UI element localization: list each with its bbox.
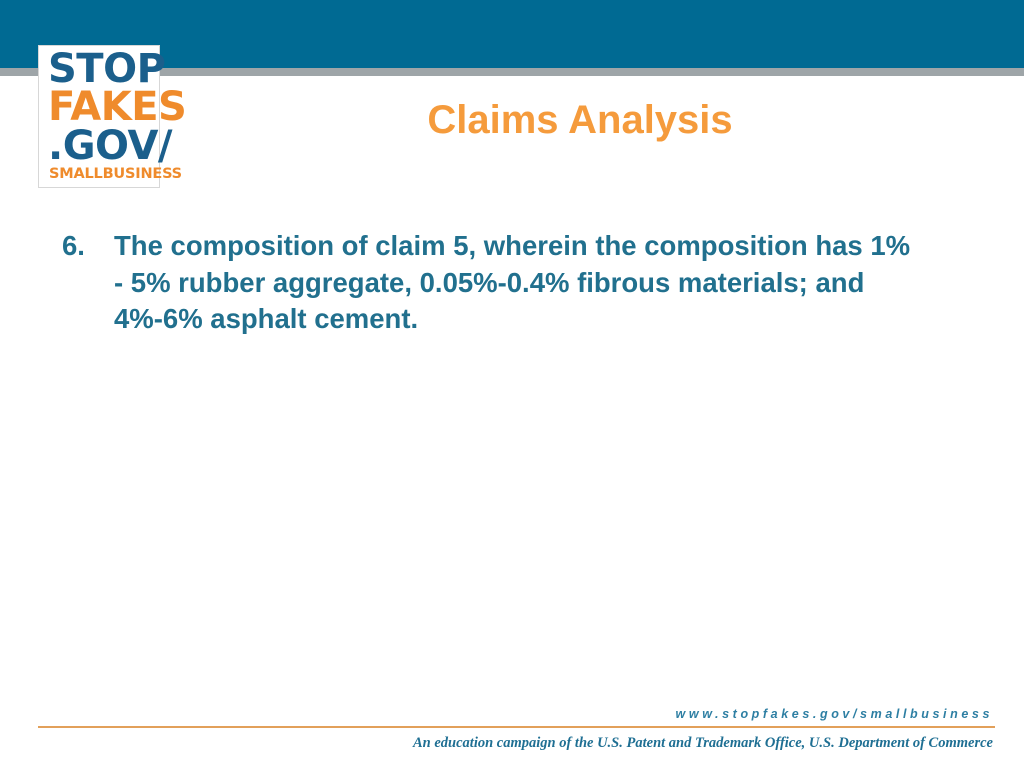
- logo-text-smallbusiness: SMALLBUSINESS: [39, 168, 159, 182]
- list-item-text: The composition of claim 5, wherein the …: [114, 228, 924, 338]
- list-item-marker: 6.: [62, 228, 114, 265]
- list-item: 6. The composition of claim 5, wherein t…: [62, 228, 962, 338]
- footer-divider-rule: [38, 726, 995, 728]
- stopfakes-logo[interactable]: STOP FAKES .GOV/ SMALLBUSINESS: [38, 45, 160, 188]
- page-title: Claims Analysis: [180, 98, 980, 142]
- logo-text-fakes: FAKES: [39, 88, 159, 126]
- claim-list: 6. The composition of claim 5, wherein t…: [62, 228, 962, 338]
- slide-canvas: STOP FAKES .GOV/ SMALLBUSINESS Claims An…: [0, 0, 1024, 768]
- logo-text-gov: .GOV/: [39, 127, 159, 165]
- footer-tagline: An education campaign of the U.S. Patent…: [413, 735, 993, 752]
- footer-website-url[interactable]: www.stopfakes.gov/smallbusiness: [676, 707, 993, 721]
- logo-text-stop: STOP: [39, 50, 159, 88]
